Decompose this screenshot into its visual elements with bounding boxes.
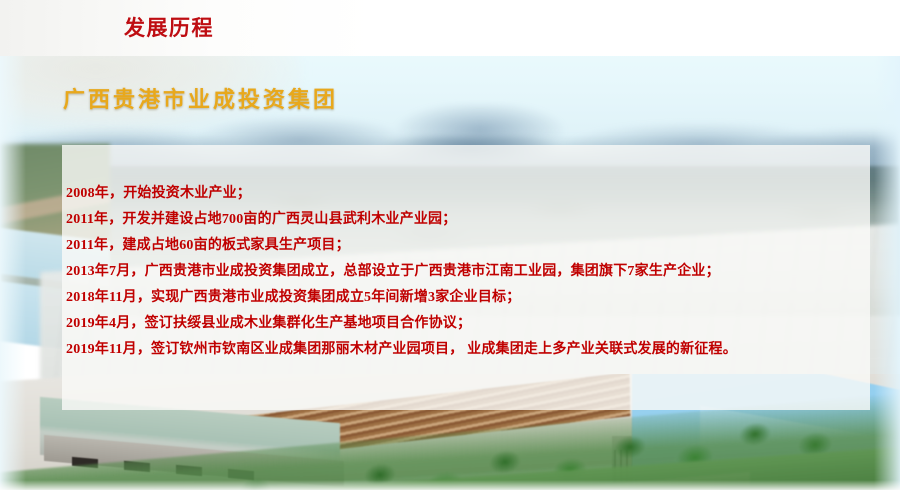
slide-root: 广西贵港市业成投资集团 2008年，开始投资木业产业； 2011年，开发并建设占… (0, 0, 900, 490)
timeline-item: 2019年4月，签订扶绥县业成木业集群化生产基地项目合作协议； (66, 311, 866, 337)
company-title: 广西贵港市业成投资集团 (63, 82, 338, 114)
photo-bottom-fade (0, 480, 900, 490)
timeline-item: 2018年11月，实现广西贵港市业成投资集团成立5年间新增3家企业目标； (66, 285, 866, 311)
timeline-item: 2011年，开发并建设占地700亩的广西灵山县武利木业产业园； (66, 207, 866, 233)
photo-right-fade (874, 48, 900, 490)
timeline-item: 2013年7月，广西贵港市业成投资集团成立，总部设立于广西贵港市江南工业园，集团… (66, 259, 866, 285)
timeline-item: 2019年11月，签订钦州市钦南区业成集团那丽木材产业园项目， 业成集团走上多产… (66, 337, 866, 363)
timeline-item: 2008年，开始投资木业产业； (66, 181, 866, 207)
timeline-list: 2008年，开始投资木业产业； 2011年，开发并建设占地700亩的广西灵山县武… (66, 181, 866, 363)
page-title: 发展历程 (124, 12, 214, 42)
photo-left-fade (0, 48, 26, 490)
timeline-item: 2011年，建成占地60亩的板式家具生产项目； (66, 233, 866, 259)
